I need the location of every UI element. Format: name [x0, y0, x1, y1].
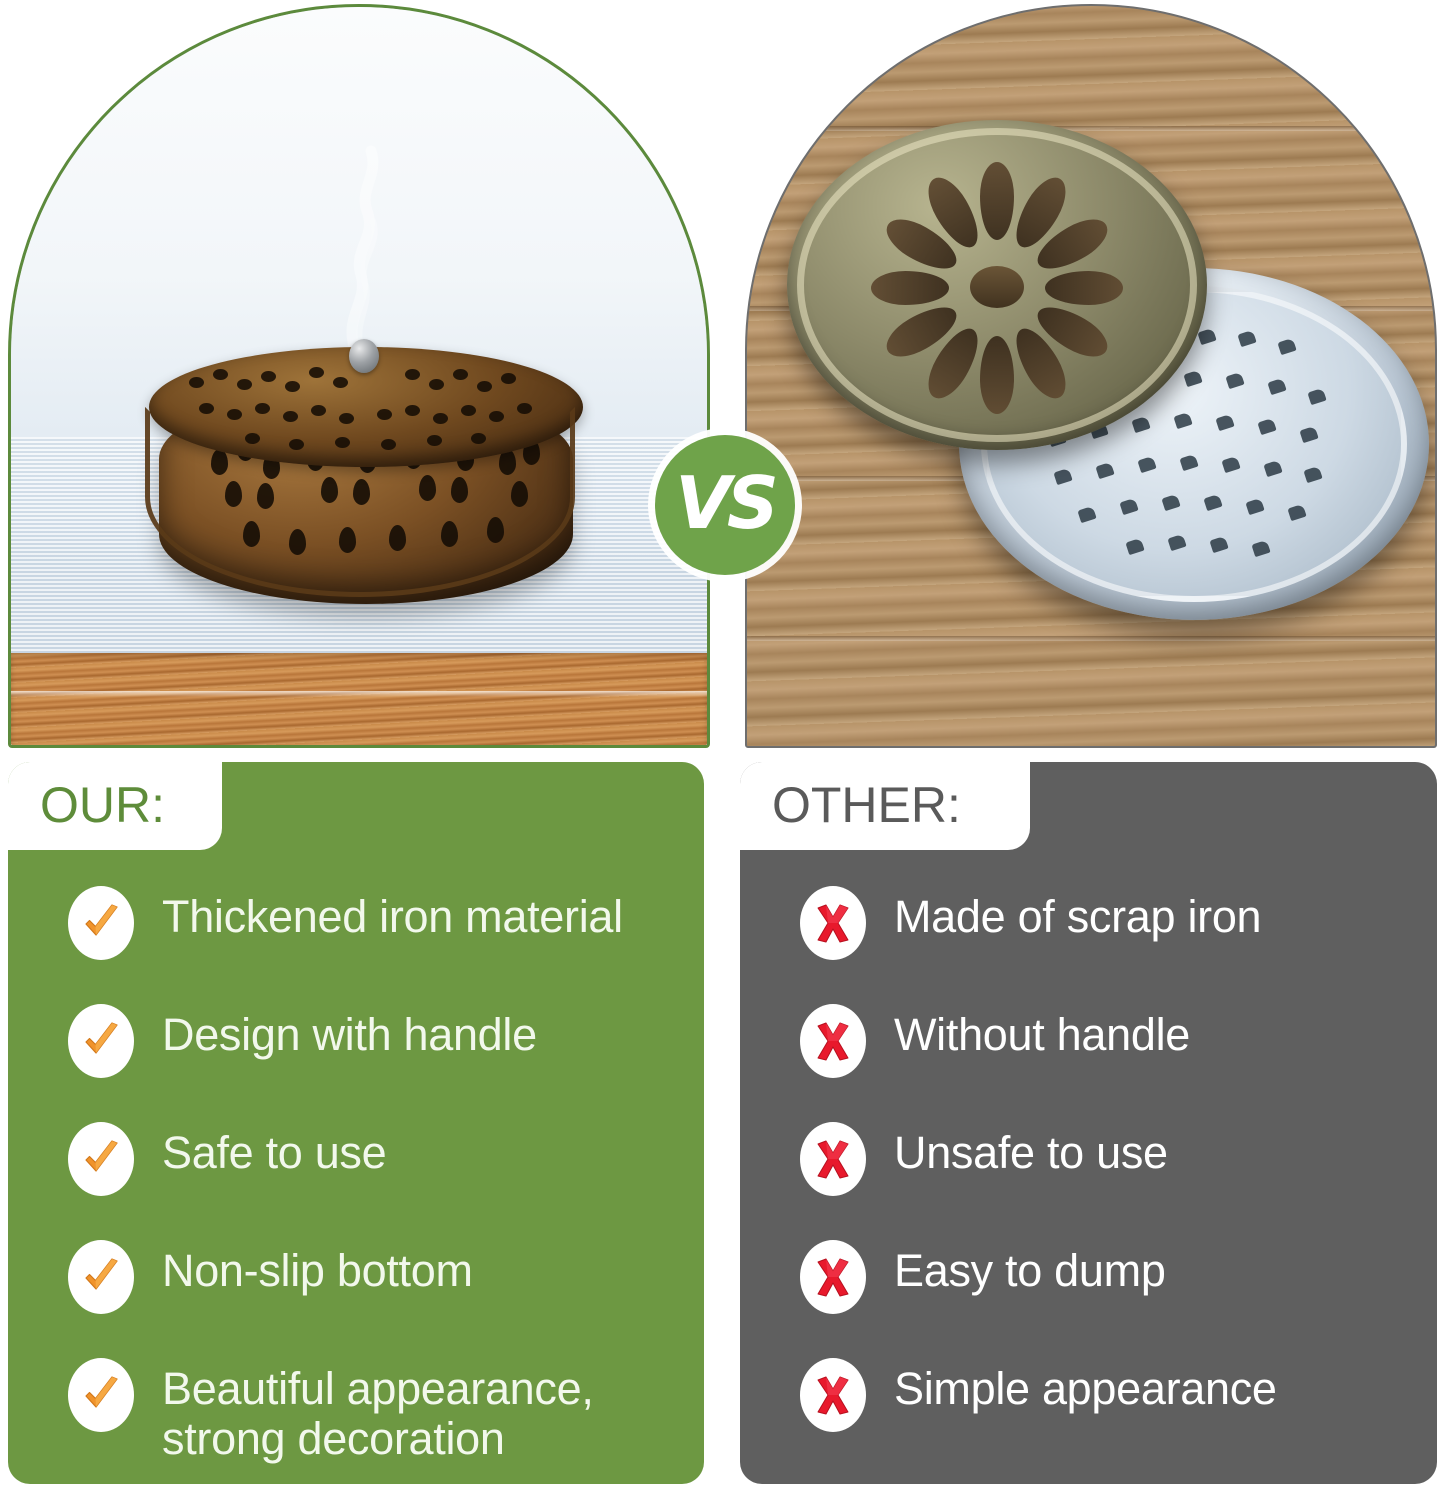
other-photo-scene	[747, 6, 1435, 746]
list-item-label: Safe to use	[162, 1116, 386, 1178]
flower-pattern-lid	[787, 120, 1207, 450]
check-icon	[68, 1122, 134, 1196]
other-panel-tag-label: OTHER:	[772, 780, 961, 830]
cross-icon	[800, 1358, 866, 1432]
our-features-panel: OUR: Thickened iron material	[8, 762, 704, 1484]
photo-comparison-row: VS	[0, 0, 1445, 752]
list-item: Beautiful appearance, strong decoration	[68, 1352, 678, 1484]
list-item-label: Non-slip bottom	[162, 1234, 473, 1296]
check-icon	[68, 1004, 134, 1078]
list-item: Non-slip bottom	[68, 1234, 678, 1352]
list-item: Safe to use	[68, 1116, 678, 1234]
our-panel-tag: OUR:	[8, 762, 222, 850]
list-item-label: Without handle	[894, 998, 1190, 1060]
our-panel-tag-label: OUR:	[40, 780, 165, 830]
coil-holder-product	[131, 337, 601, 637]
check-icon	[68, 886, 134, 960]
feature-comparison-row: OUR: Thickened iron material	[0, 762, 1445, 1489]
list-item: Made of scrap iron	[800, 880, 1411, 998]
comparison-infographic: VS	[0, 0, 1445, 1489]
lid-center-hole	[970, 266, 1024, 308]
list-item: Without handle	[800, 998, 1411, 1116]
wood-table-edge	[11, 653, 707, 745]
list-item: Unsafe to use	[800, 1116, 1411, 1234]
list-item-label: Easy to dump	[894, 1234, 1166, 1296]
our-photo-scene	[11, 7, 707, 745]
cross-icon	[800, 1122, 866, 1196]
list-item: Design with handle	[68, 998, 678, 1116]
check-icon	[68, 1358, 134, 1432]
smoke-wisp-icon	[311, 127, 401, 357]
check-icon	[68, 1240, 134, 1314]
vs-label: VS	[675, 467, 775, 539]
other-panel-tag: OTHER:	[740, 762, 1030, 850]
list-item-label: Unsafe to use	[894, 1116, 1168, 1178]
our-product-photo	[8, 4, 710, 748]
our-feature-list: Thickened iron material Design with hand…	[8, 880, 704, 1484]
list-item: Thickened iron material	[68, 880, 678, 998]
list-item-label: Beautiful appearance, strong decoration	[162, 1352, 594, 1465]
other-feature-list: Made of scrap iron Without handle	[740, 880, 1437, 1484]
vs-badge-icon: VS	[655, 435, 795, 575]
list-item: Easy to dump	[800, 1234, 1411, 1352]
cross-icon	[800, 1004, 866, 1078]
cross-icon	[800, 1240, 866, 1314]
cross-icon	[800, 886, 866, 960]
lid-knob	[349, 339, 379, 373]
list-item-label: Made of scrap iron	[894, 880, 1261, 942]
list-item-label: Thickened iron material	[162, 880, 623, 942]
list-item-label: Design with handle	[162, 998, 537, 1060]
list-item: Simple appearance	[800, 1352, 1411, 1470]
list-item-label: Simple appearance	[894, 1352, 1277, 1414]
other-product-photo	[745, 4, 1437, 748]
other-features-panel: OTHER: Made of scrap iron	[740, 762, 1437, 1484]
